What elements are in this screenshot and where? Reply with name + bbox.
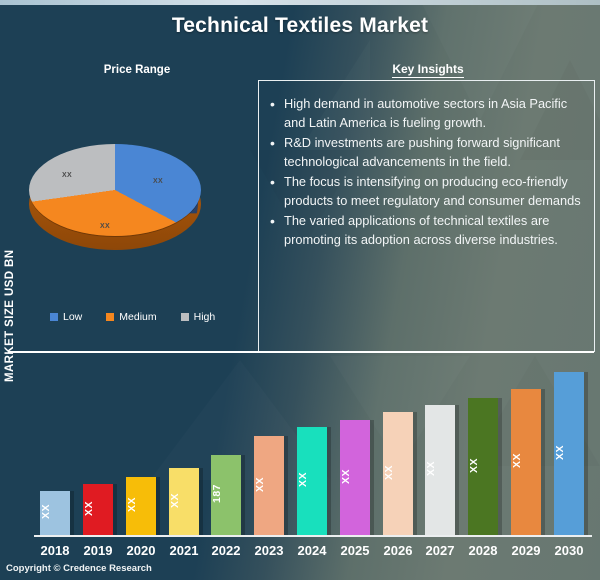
pie-legend: Low Medium High <box>50 311 215 323</box>
bar-shadow <box>498 398 502 536</box>
top-accent-strip <box>0 0 600 5</box>
bar-value-label: XX <box>340 428 370 524</box>
bar-2030: XX <box>554 372 584 536</box>
bar-shadow <box>541 389 545 536</box>
bar-value-label: XX <box>425 413 455 524</box>
list-item: The varied applications of technical tex… <box>267 212 584 250</box>
bar-column: XX <box>83 360 113 536</box>
page-title: Technical Textiles Market <box>0 14 600 38</box>
x-axis-label-2023: 2023 <box>247 543 291 558</box>
bar-shadow <box>113 484 117 536</box>
pie-surface <box>29 144 201 236</box>
list-item: The focus is intensifying on producing e… <box>267 173 584 211</box>
bar-shadow <box>199 468 203 536</box>
bar-value-label: 187 <box>211 463 241 524</box>
infographic-canvas: Technical Textiles Market Price Range Ke… <box>0 0 600 580</box>
bar-value-label: XX <box>511 397 541 524</box>
bar-chart-y-axis-label: MARKET SIZE USD BN <box>4 364 16 382</box>
bar-shadow <box>327 427 331 536</box>
key-insights-list: High demand in automotive sectors in Asi… <box>267 95 584 250</box>
x-axis-label-2026: 2026 <box>376 543 420 558</box>
bar-shadow <box>584 372 588 536</box>
bar-column: XX <box>297 360 327 536</box>
list-item: R&D investments are pushing forward sign… <box>267 134 584 172</box>
bar-value-label: XX <box>554 380 584 524</box>
copyright-footer: Copyright © Credence Research <box>6 563 152 574</box>
bar-column: XX <box>425 360 455 536</box>
x-axis-label-2025: 2025 <box>333 543 377 558</box>
bar-chart-x-axis: 2018201920202021202220232024202520262027… <box>34 543 592 565</box>
x-axis-label-2024: 2024 <box>290 543 334 558</box>
bar-column: XX <box>383 360 413 536</box>
legend-label-high: High <box>194 311 216 323</box>
bar-shadow <box>413 412 417 536</box>
legend-swatch-low <box>50 313 58 321</box>
bar-column: XX <box>169 360 199 536</box>
bar-column: XX <box>340 360 370 536</box>
key-insights-heading-text: Key Insights <box>392 62 463 78</box>
bar-2028: XX <box>468 398 498 536</box>
section-divider <box>8 351 594 353</box>
bar-shadow <box>284 436 288 536</box>
x-axis-label-2018: 2018 <box>33 543 77 558</box>
legend-label-medium: Medium <box>119 311 156 323</box>
legend-swatch-medium <box>106 313 114 321</box>
bar-shadow <box>455 405 459 536</box>
pie-label-high: XX <box>62 172 72 179</box>
bar-2018: XX <box>40 491 70 536</box>
bar-shadow <box>70 491 74 536</box>
x-axis-label-2028: 2028 <box>461 543 505 558</box>
bar-chart-plot-area: XXXXXXXX187XXXXXXXXXXXXXXXX <box>34 360 590 536</box>
bar-value-label: XX <box>40 499 70 524</box>
price-range-heading: Price Range <box>42 64 232 76</box>
bar-shadow <box>370 420 374 536</box>
bar-2021: XX <box>169 468 199 536</box>
legend-swatch-high <box>181 313 189 321</box>
legend-item-medium: Medium <box>106 311 156 323</box>
legend-item-low: Low <box>50 311 82 323</box>
bar-column: XX <box>554 360 584 536</box>
price-range-pie-chart: XX XX XX <box>22 130 222 260</box>
bar-value-label: XX <box>254 444 284 524</box>
bar-2019: XX <box>83 484 113 536</box>
pie-label-medium: XX <box>100 223 110 230</box>
x-axis-label-2020: 2020 <box>119 543 163 558</box>
bar-value-label: XX <box>468 406 498 524</box>
bar-2026: XX <box>383 412 413 536</box>
bar-2022: 187 <box>211 455 241 536</box>
x-axis-label-2029: 2029 <box>504 543 548 558</box>
bar-shadow <box>241 455 245 536</box>
key-insights-heading: Key Insights <box>258 62 598 76</box>
bar-chart-baseline <box>34 535 592 537</box>
x-axis-label-2021: 2021 <box>162 543 206 558</box>
bar-2020: XX <box>126 477 156 536</box>
key-insights-panel: High demand in automotive sectors in Asi… <box>258 80 595 352</box>
bar-2027: XX <box>425 405 455 536</box>
bar-column: XX <box>126 360 156 536</box>
bar-column: XX <box>254 360 284 536</box>
x-axis-label-2019: 2019 <box>76 543 120 558</box>
bar-value-label: XX <box>126 485 156 524</box>
bar-column: XX <box>468 360 498 536</box>
pie-label-low: XX <box>153 178 163 185</box>
bar-value-label: XX <box>383 420 413 524</box>
price-range-heading-text: Price Range <box>104 64 170 76</box>
x-axis-label-2027: 2027 <box>418 543 462 558</box>
bar-value-label: XX <box>169 476 199 524</box>
x-axis-label-2030: 2030 <box>547 543 591 558</box>
bar-column: 187 <box>211 360 241 536</box>
x-axis-label-2022: 2022 <box>204 543 248 558</box>
bar-value-label: XX <box>83 492 113 524</box>
list-item: High demand in automotive sectors in Asi… <box>267 95 584 133</box>
bar-column: XX <box>511 360 541 536</box>
bar-2025: XX <box>340 420 370 536</box>
bar-2029: XX <box>511 389 541 536</box>
bar-2024: XX <box>297 427 327 536</box>
legend-label-low: Low <box>63 311 82 323</box>
bar-shadow <box>156 477 160 536</box>
legend-item-high: High <box>181 311 216 323</box>
bar-column: XX <box>40 360 70 536</box>
bar-2023: XX <box>254 436 284 536</box>
bar-value-label: XX <box>297 435 327 524</box>
